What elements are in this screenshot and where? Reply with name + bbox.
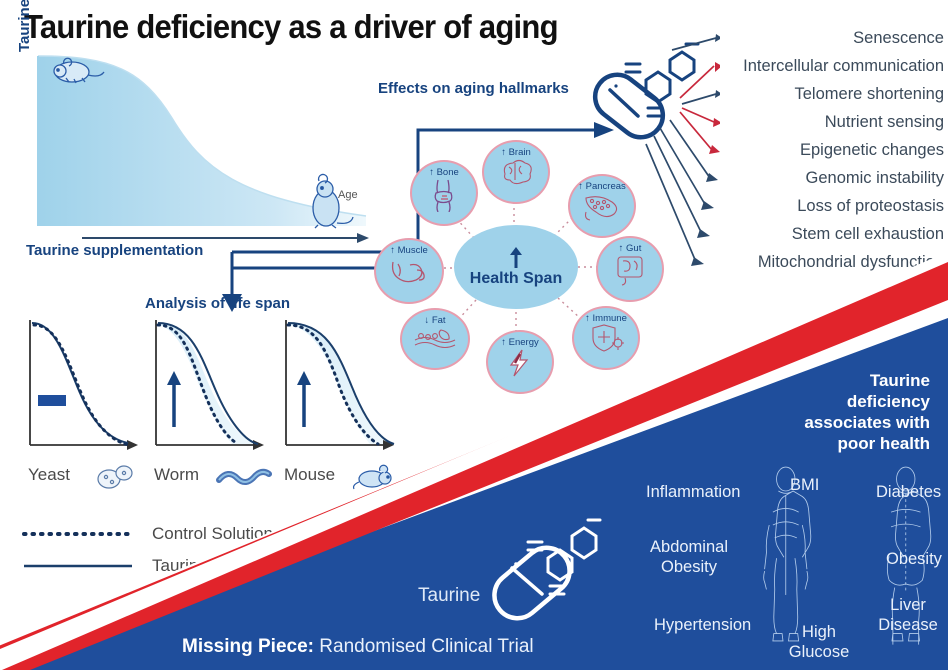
- condition-inflammation: Inflammation: [646, 482, 740, 502]
- taurine-pill-label: Taurine: [418, 585, 480, 607]
- condition-hypertension: Hypertension: [654, 615, 751, 635]
- condition-bmi: BMI: [790, 475, 819, 495]
- infographic-root: Taurine deficiency as a driver of aging …: [0, 0, 948, 670]
- condition-liver-disease: Liver Disease: [872, 595, 944, 635]
- bottom-panel-heading: Taurine deficiency associates with poor …: [790, 370, 930, 454]
- missing-piece-rest: Randomised Clinical Trial: [314, 636, 534, 657]
- condition-high-glucose: High Glucose: [786, 622, 852, 662]
- missing-piece-bold: Missing Piece:: [182, 636, 314, 657]
- bottom-diagonal-panel: [0, 0, 948, 670]
- condition-obesity: Obesity: [886, 549, 942, 569]
- condition-abdominal-obesity: Abdominal Obesity: [646, 537, 732, 577]
- condition-diabetes: Diabetes: [876, 482, 941, 502]
- missing-piece-footer: Missing Piece: Randomised Clinical Trial: [182, 636, 534, 658]
